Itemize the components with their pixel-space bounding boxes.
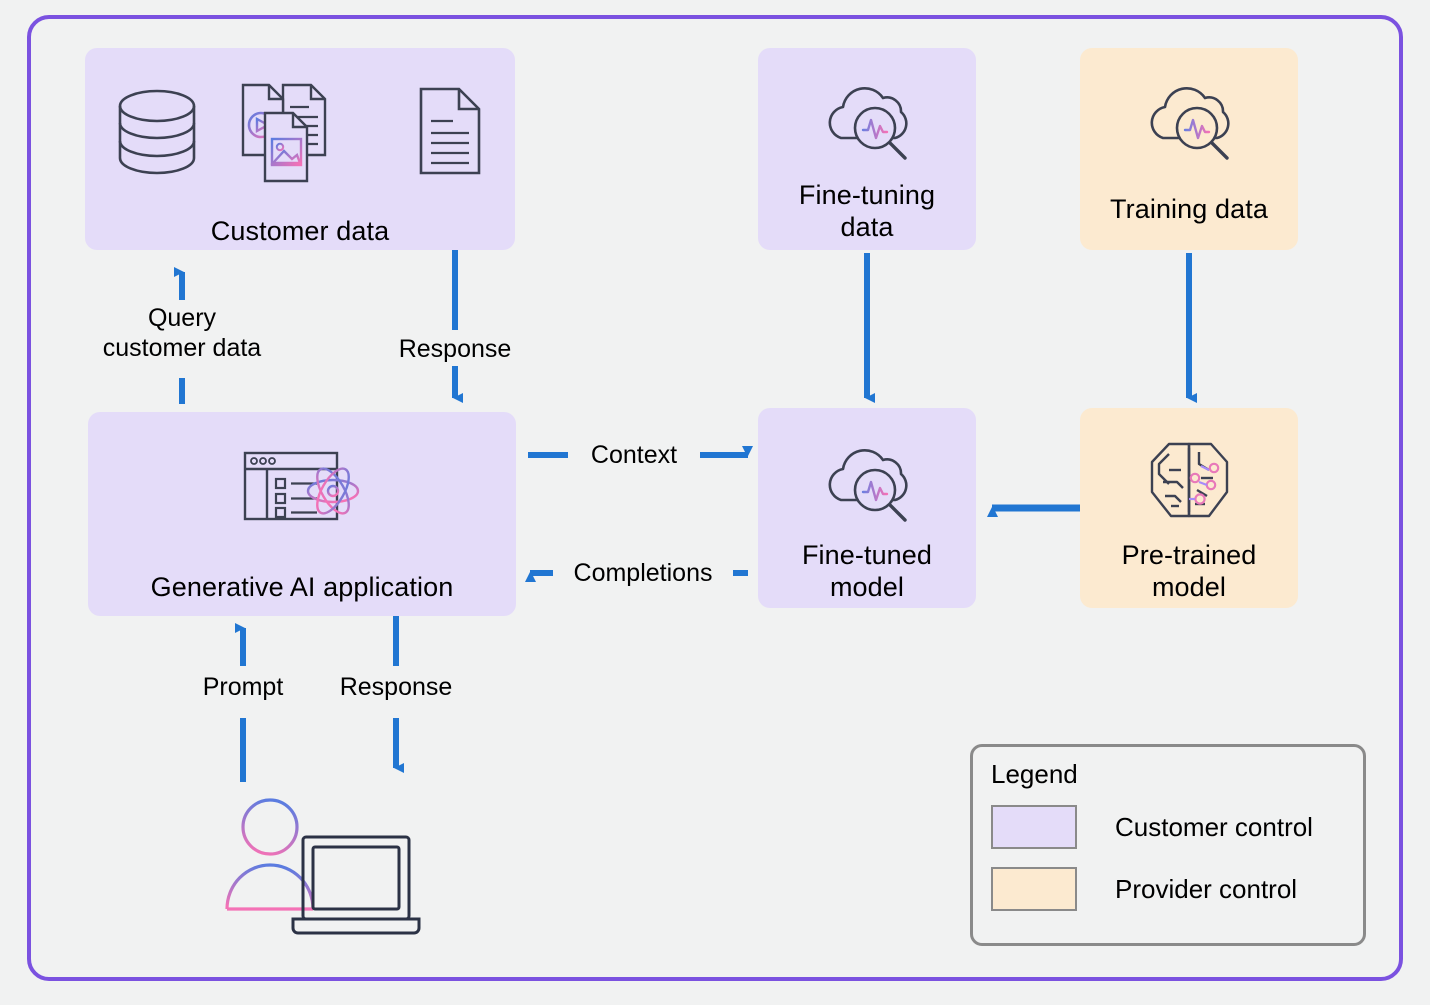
pre-trained-model-icon-wrap bbox=[1080, 436, 1298, 526]
cloud-search-icon bbox=[1135, 76, 1243, 162]
legend-label-provider-control: Provider control bbox=[1115, 874, 1297, 905]
brain-circuit-icon bbox=[1143, 438, 1235, 524]
legend: Legend Customer control Provider control bbox=[970, 744, 1366, 946]
flow-label-response-from-data: Response bbox=[355, 334, 555, 364]
generative-ai-icon-wrap bbox=[88, 444, 516, 530]
flow-label-response-to-user: Response bbox=[316, 672, 476, 702]
node-user bbox=[225, 795, 435, 945]
diagram-canvas: Customer data bbox=[0, 0, 1430, 1005]
laptop-icon bbox=[293, 837, 419, 933]
cloud-search-icon bbox=[813, 76, 921, 162]
node-pre-trained-model[interactable]: Pre-trained model bbox=[1080, 408, 1298, 608]
legend-title: Legend bbox=[991, 759, 1078, 790]
legend-swatch-customer-control bbox=[991, 805, 1077, 849]
legend-item-customer-control: Customer control bbox=[991, 805, 1313, 849]
user-laptop-icons bbox=[225, 795, 435, 945]
training-data-icon-wrap bbox=[1080, 74, 1298, 164]
flow-label-context: Context bbox=[564, 440, 704, 470]
legend-label-customer-control: Customer control bbox=[1115, 812, 1313, 843]
browser-atom-icon bbox=[241, 447, 363, 527]
node-customer-data[interactable]: Customer data bbox=[85, 48, 515, 250]
node-label-customer-data: Customer data bbox=[203, 216, 397, 248]
node-label-fine-tuning-data: Fine-tuning data bbox=[791, 180, 943, 243]
fine-tuning-data-icon-wrap bbox=[758, 74, 976, 164]
node-fine-tuning-data[interactable]: Fine-tuning data bbox=[758, 48, 976, 250]
node-label-fine-tuned-model: Fine-tuned model bbox=[794, 540, 940, 603]
person-icon bbox=[227, 800, 313, 909]
node-generative-ai-application[interactable]: Generative AI application bbox=[88, 412, 516, 616]
legend-swatch-provider-control bbox=[991, 867, 1077, 911]
document-icon bbox=[415, 83, 487, 179]
node-training-data[interactable]: Training data bbox=[1080, 48, 1298, 250]
flow-label-query-customer-data: Query customer data bbox=[62, 303, 302, 363]
fine-tuned-model-icon-wrap bbox=[758, 436, 976, 526]
customer-data-icons bbox=[85, 76, 515, 186]
flow-label-completions: Completions bbox=[548, 558, 738, 588]
node-fine-tuned-model[interactable]: Fine-tuned model bbox=[758, 408, 976, 608]
cloud-search-icon bbox=[813, 438, 921, 524]
legend-item-provider-control: Provider control bbox=[991, 867, 1297, 911]
node-label-generative-ai-application: Generative AI application bbox=[143, 572, 462, 604]
node-label-pre-trained-model: Pre-trained model bbox=[1114, 540, 1265, 603]
flow-label-prompt: Prompt bbox=[163, 672, 323, 702]
multi-document-icon bbox=[235, 77, 339, 185]
database-icon bbox=[113, 83, 201, 179]
node-label-training-data: Training data bbox=[1102, 194, 1276, 226]
